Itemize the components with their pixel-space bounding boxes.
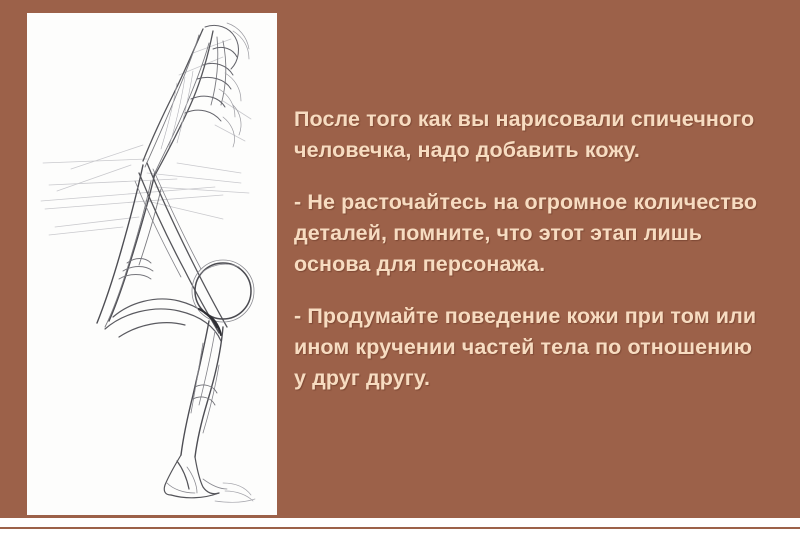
pencil-figure-sketch-icon — [27, 13, 277, 515]
paragraph-2: - Не расточайтесь на огромное количество… — [294, 187, 764, 280]
paragraph-3: - Продумайте поведение кожи при том или … — [294, 301, 764, 394]
slide-canvas: После того как вы нарисовали спичечного … — [0, 0, 800, 534]
text-column: После того как вы нарисовали спичечного … — [294, 104, 764, 394]
bottom-divider — [0, 527, 800, 529]
image-panel — [27, 13, 277, 515]
paragraph-1: После того как вы нарисовали спичечного … — [294, 104, 764, 166]
